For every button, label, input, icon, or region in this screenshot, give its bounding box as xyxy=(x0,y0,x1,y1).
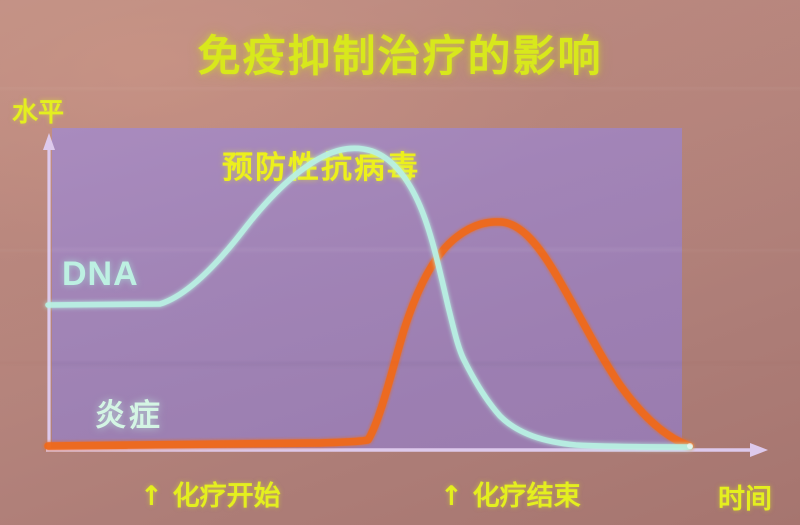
x-axis-label: 时间 xyxy=(718,477,772,516)
page-title: 免疫抑制治疗的影响 xyxy=(0,22,800,84)
event-marker-chemo-end-label: 化疗结束 xyxy=(473,481,581,512)
slide-canvas: 免疫抑制治疗的影响 水平 时间 预防性抗病毒 DNA 炎症 ↑化疗开始 ↑化疗结… xyxy=(0,0,800,525)
up-arrow-icon: ↑ xyxy=(440,483,463,510)
annotation-prophylactic-antiviral: 预防性抗病毒 xyxy=(222,142,420,187)
up-arrow-icon: ↑ xyxy=(140,483,163,510)
curve-endpoint-marker xyxy=(687,443,693,449)
series-label-dna: DNA xyxy=(62,255,139,294)
event-marker-chemo-start: ↑化疗开始 xyxy=(140,474,281,513)
series-label-inflammation: 炎症 xyxy=(95,390,163,435)
event-marker-chemo-start-label: 化疗开始 xyxy=(173,481,281,512)
event-marker-chemo-end: ↑化疗结束 xyxy=(440,474,581,513)
y-axis-label: 水平 xyxy=(12,92,64,129)
